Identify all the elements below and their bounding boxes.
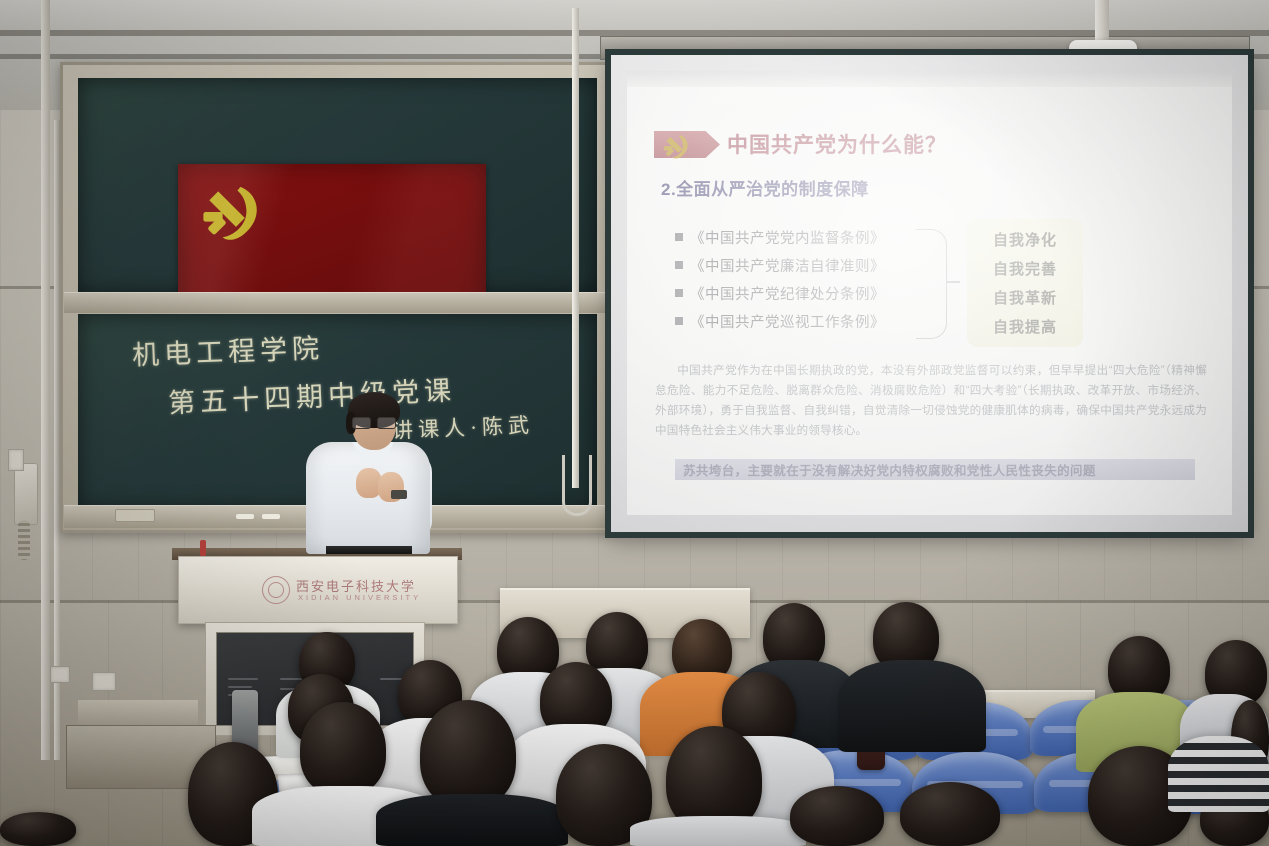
chalk-stick-2[interactable] — [262, 514, 280, 519]
callout-item: 自我完善 — [993, 258, 1057, 279]
curly-brace-icon — [916, 229, 947, 339]
bullet-label: 《中国共产党巡视工作条例》 — [690, 311, 885, 332]
slide-paragraph: 中国共产党作为在中国长期执政的党，本没有外部政党监督可以约束，但早早提出“四大危… — [655, 361, 1207, 441]
student-head — [0, 812, 76, 846]
slide-highlight-band: 苏共垮台，主要就在于没有解决好党内特权腐败和党性人民性丧失的问题 — [675, 459, 1195, 480]
bullet-label: 《中国共产党党内监督条例》 — [690, 227, 885, 248]
bullet-square-icon — [675, 261, 683, 269]
slide-top-strip — [627, 71, 1232, 87]
phone-cord — [18, 520, 30, 560]
student-shoulders — [376, 794, 568, 846]
console-label-line — [228, 678, 258, 680]
slide-title: 中国共产党为什么能？ — [727, 129, 947, 159]
screen-pull-hook[interactable] — [562, 455, 592, 516]
wall-intercom-phone[interactable] — [14, 463, 38, 525]
student-head — [790, 786, 884, 846]
bullet-label: 《中国共产党纪律处分条例》 — [690, 283, 885, 304]
student-head — [420, 700, 516, 808]
chalk-line-1: 机电工程学院 — [131, 326, 324, 372]
chalk-line-3: 讲课人·陈武 — [391, 409, 534, 445]
callout-item: 自我革新 — [993, 287, 1057, 308]
bullet-label: 《中国共产党廉洁自律准则》 — [690, 255, 885, 276]
wall-conduit-pipe-1 — [41, 0, 50, 760]
power-outlet-left[interactable] — [50, 666, 70, 683]
speaker-belt — [326, 546, 412, 554]
presentation-slide: 中国共产党为什么能？ 2.全面从严治党的制度保障 《中国共产党党内监督条例》 《… — [627, 71, 1232, 515]
speaker-glasses-icon — [352, 417, 396, 427]
slide-callout-box: 自我净化 自我完善 自我革新 自我提高 — [967, 219, 1083, 347]
lecture-hall-photo: 机电工程学院 第五十四期中级党课 讲课人·陈武 ThreeStars 中国共产党… — [0, 0, 1269, 846]
bullet-item: 《中国共产党党内监督条例》 — [675, 223, 885, 251]
blackboard-middle-ledge — [64, 292, 611, 313]
callout-item: 自我净化 — [993, 229, 1057, 250]
student-head — [300, 702, 386, 796]
student-shoulders — [838, 660, 986, 752]
bullet-square-icon — [675, 317, 683, 325]
bullet-item: 《中国共产党廉洁自律准则》 — [675, 251, 885, 279]
highlight-text: 苏共垮台，主要就在于没有解决好党内特权腐败和党性人民性丧失的问题 — [683, 460, 1096, 479]
hammer-sickle-emblem — [194, 178, 272, 252]
student-head — [900, 782, 1000, 846]
bullet-item: 《中国共产党纪律处分条例》 — [675, 279, 885, 307]
blackboard-eraser[interactable] — [115, 509, 155, 522]
hammer-sickle-icon — [660, 131, 694, 164]
university-name-en: XIDIAN UNIVERSITY — [298, 593, 421, 602]
console-label-line — [228, 686, 252, 688]
podium-microphone-icon — [200, 540, 206, 556]
student-shoulders — [630, 816, 806, 846]
wall-plate-top — [8, 449, 24, 471]
slide-bullet-list: 《中国共产党党内监督条例》 《中国共产党廉洁自律准则》 《中国共产党纪律处分条例… — [675, 223, 885, 335]
speaker-wristwatch — [391, 490, 407, 499]
power-outlet-center[interactable] — [92, 672, 116, 691]
callout-item: 自我提高 — [993, 316, 1057, 337]
bullet-item: 《中国共产党巡视工作条例》 — [675, 307, 885, 335]
cpc-party-flag — [178, 164, 486, 293]
bullet-square-icon — [675, 233, 683, 241]
podium-step — [78, 700, 198, 728]
university-seal-icon — [262, 576, 290, 604]
ceiling-band — [0, 0, 1269, 34]
student-striped-shirt — [1168, 736, 1269, 812]
blackboard-panel-top — [78, 78, 597, 293]
slide-subtitle: 2.全面从严治党的制度保障 — [661, 175, 869, 200]
bullet-square-icon — [675, 289, 683, 297]
screen-pull-rod[interactable] — [572, 8, 579, 488]
paragraph-text: 中国共产党作为在中国长期执政的党，本没有外部政党监督可以约束，但早早提出“四大危… — [655, 364, 1207, 437]
brace-tail-icon — [946, 281, 960, 283]
chalk-stick-1[interactable] — [236, 514, 254, 519]
projection-screen: 中国共产党为什么能？ 2.全面从严治党的制度保障 《中国共产党党内监督条例》 《… — [611, 55, 1248, 532]
